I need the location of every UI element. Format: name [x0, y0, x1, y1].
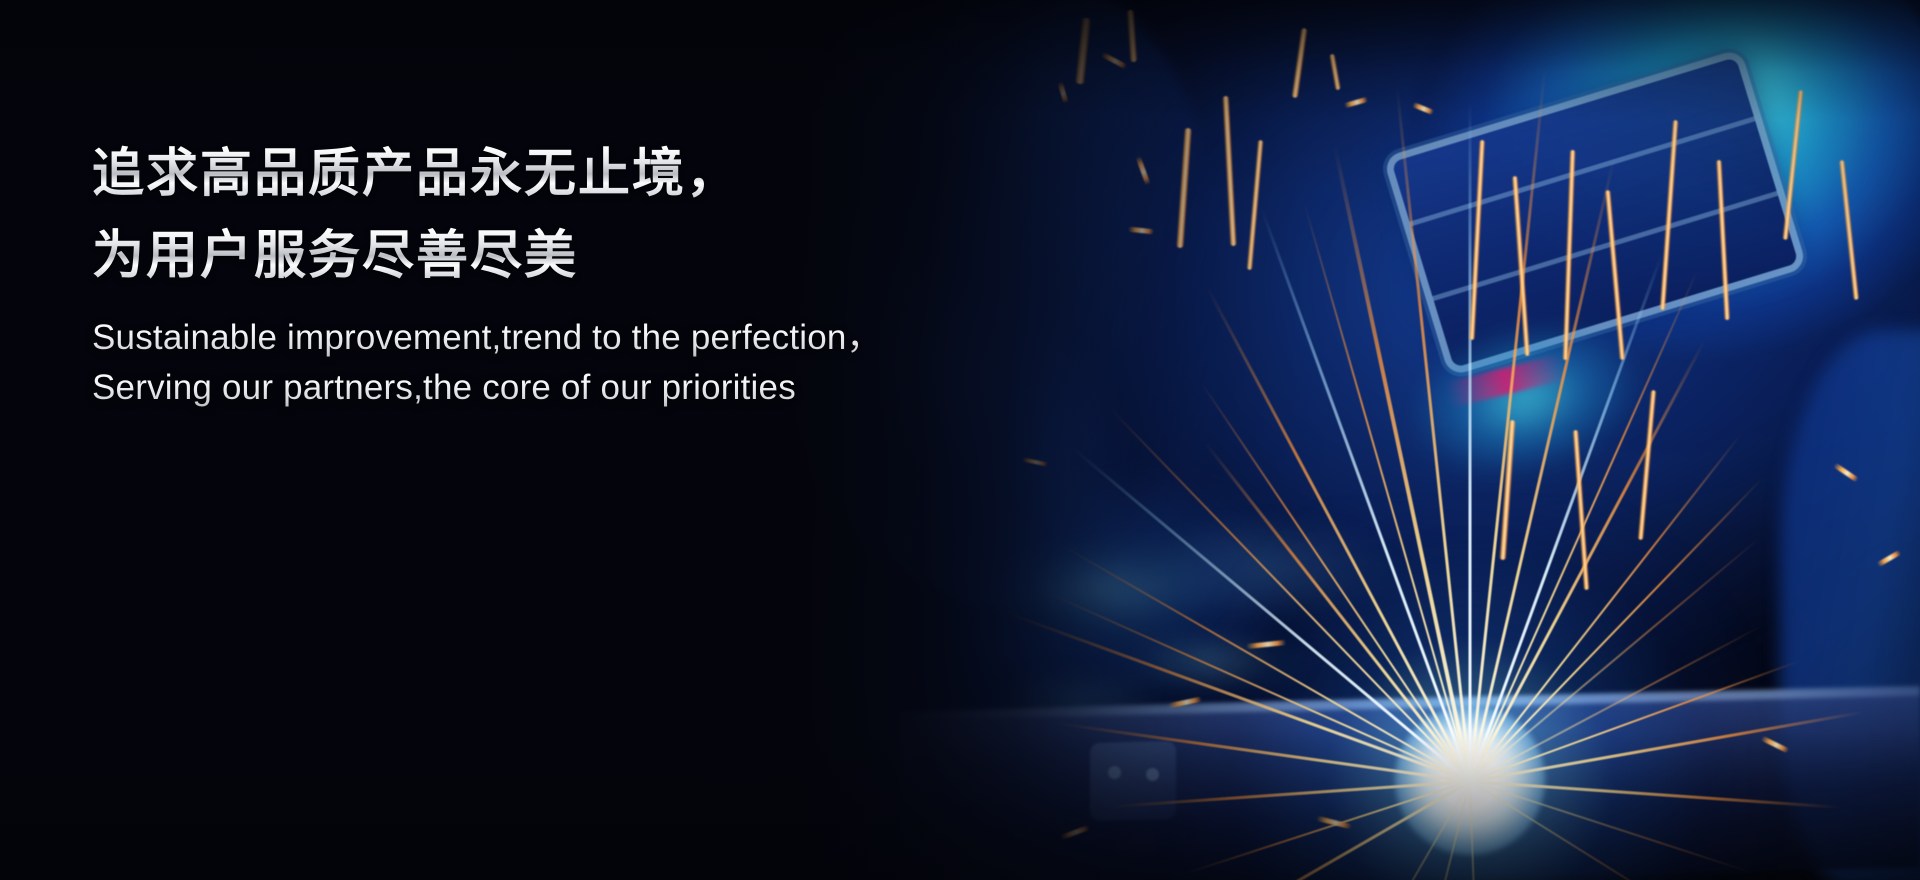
welding-photo: [0, 0, 1920, 880]
floating-sparks: [0, 0, 1920, 880]
headline-line-1: 追求高品质产品永无止境，: [92, 136, 882, 212]
subtitle-line-1: Sustainable improvement,trend to the per…: [92, 314, 882, 362]
subtitle-line-2: Serving our partners,the core of our pri…: [92, 364, 882, 412]
hero-banner: 追求高品质产品永无止境， 为用户服务尽善尽美 Sustainable impro…: [0, 0, 1920, 880]
headline-line-2: 为用户服务尽善尽美: [92, 218, 882, 294]
hero-copy: 追求高品质产品永无止境， 为用户服务尽善尽美 Sustainable impro…: [92, 136, 882, 412]
